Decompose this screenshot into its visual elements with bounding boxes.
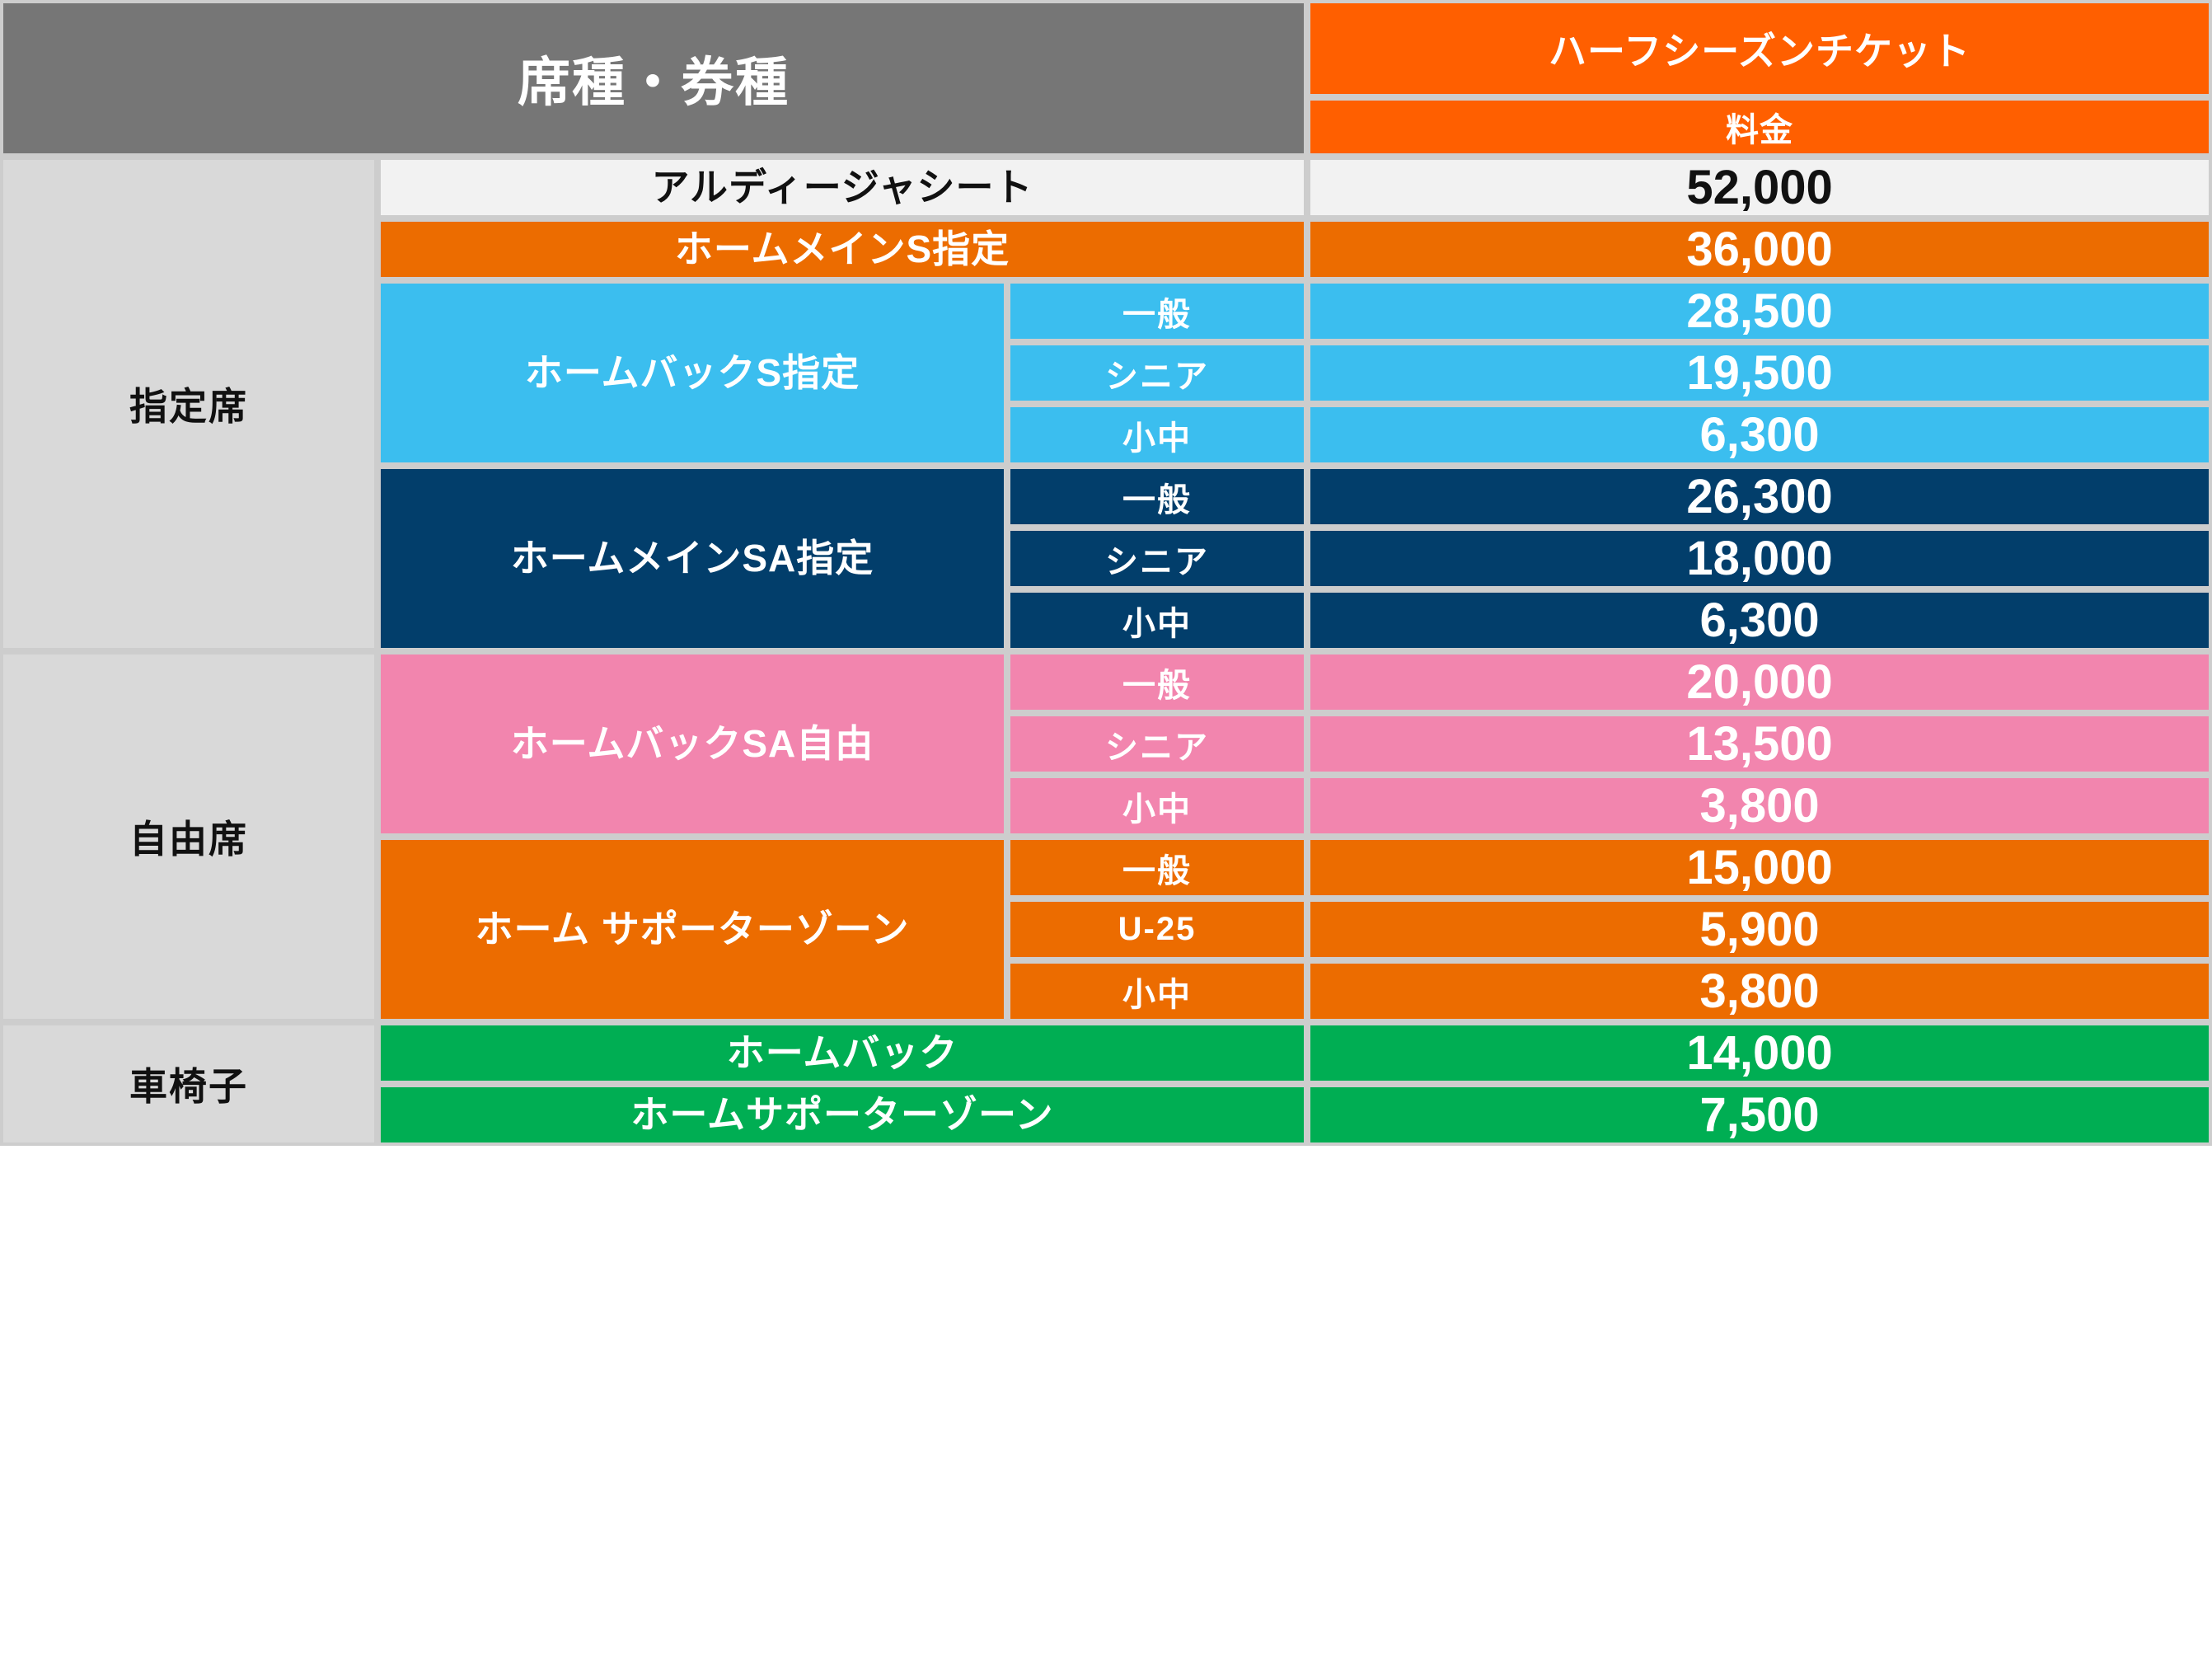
price-cell: 26,300 [1307, 466, 2212, 528]
price-cell: 14,000 [1307, 1022, 2212, 1084]
header-seat-type: 席種・券種 [0, 0, 1307, 157]
seat-name-cell: ホームバック [377, 1022, 1307, 1084]
price-cell: 15,000 [1307, 837, 2212, 898]
seat-name-cell: ホームサポーターゾーン [377, 1084, 1307, 1146]
price-cell: 18,000 [1307, 528, 2212, 589]
table-row: 自由席ホームバックSA自由一般20,000 [0, 651, 2212, 713]
price-cell: 3,800 [1307, 960, 2212, 1022]
sub-category-cell: 一般 [1007, 837, 1307, 898]
price-cell: 36,000 [1307, 218, 2212, 280]
price-cell: 6,300 [1307, 404, 2212, 466]
sub-category-cell: 小中 [1007, 775, 1307, 837]
seat-group-3: 車椅子 [0, 1022, 377, 1146]
seat-name-cell: ホーム サポーターゾーン [377, 837, 1007, 1022]
sub-category-cell: シニア [1007, 528, 1307, 589]
price-cell: 13,500 [1307, 713, 2212, 775]
seat-name-cell: アルディージャシート [377, 157, 1307, 218]
sub-category-cell: U-25 [1007, 898, 1307, 960]
table-row: 指定席アルディージャシート52,000 [0, 157, 2212, 218]
price-cell: 7,500 [1307, 1084, 2212, 1146]
price-cell: 28,500 [1307, 280, 2212, 342]
price-cell: 6,300 [1307, 589, 2212, 651]
sub-category-cell: シニア [1007, 713, 1307, 775]
seat-name-cell: ホームメインS指定 [377, 218, 1307, 280]
sub-category-cell: 小中 [1007, 404, 1307, 466]
price-cell: 52,000 [1307, 157, 2212, 218]
price-cell: 19,500 [1307, 342, 2212, 404]
sub-category-cell: 一般 [1007, 280, 1307, 342]
ticket-price-table: 席種・券種 ハーフシーズンチケット 料金 指定席アルディージャシート52,000… [0, 0, 2212, 1146]
price-cell: 3,800 [1307, 775, 2212, 837]
header-price-label: 料金 [1307, 97, 2212, 157]
table-body: 指定席アルディージャシート52,000ホームメインS指定36,000ホームバック… [0, 157, 2212, 1146]
sub-category-cell: 小中 [1007, 589, 1307, 651]
sub-category-cell: 小中 [1007, 960, 1307, 1022]
seat-group-2: 自由席 [0, 651, 377, 1022]
price-cell: 5,900 [1307, 898, 2212, 960]
table-header: 席種・券種 ハーフシーズンチケット 料金 [0, 0, 2212, 157]
sub-category-cell: 一般 [1007, 466, 1307, 528]
sub-category-cell: 一般 [1007, 651, 1307, 713]
header-ticket-name: ハーフシーズンチケット [1307, 0, 2212, 97]
table-row: 車椅子ホームバック14,000 [0, 1022, 2212, 1084]
seat-name-cell: ホームメインSA指定 [377, 466, 1007, 651]
sub-category-cell: シニア [1007, 342, 1307, 404]
seat-name-cell: ホームバックSA自由 [377, 651, 1007, 837]
price-cell: 20,000 [1307, 651, 2212, 713]
seat-group-1: 指定席 [0, 157, 377, 651]
seat-name-cell: ホームバックS指定 [377, 280, 1007, 466]
